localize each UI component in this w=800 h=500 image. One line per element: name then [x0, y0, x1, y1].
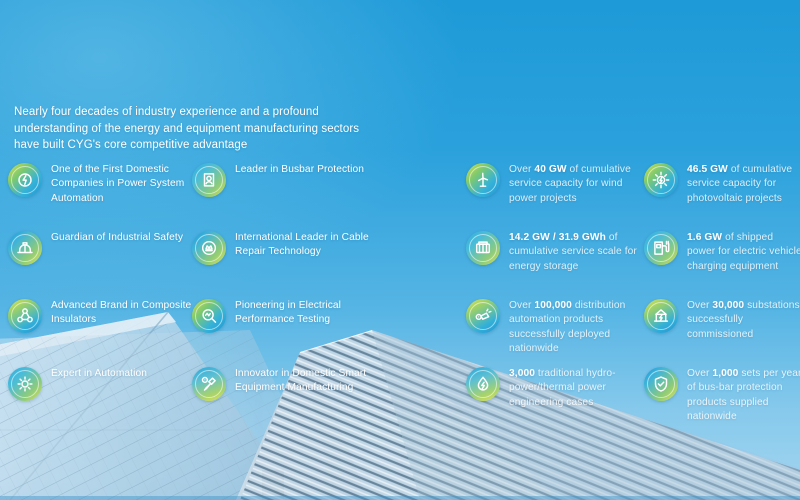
fact-item[interactable]: Innovator in Domestic Smart Equipment Ma… — [192, 366, 377, 424]
fact-column-4: 46.5 GW of cumulative service capacity f… — [644, 162, 800, 434]
fact-text: Over 40 GW of cumulative service capacit… — [509, 162, 646, 206]
fact-item[interactable]: Over 30,000 substations successfully com… — [644, 298, 800, 356]
energy-storage-icon — [466, 231, 500, 265]
fact-item[interactable]: 46.5 GW of cumulative service capacity f… — [644, 162, 800, 220]
fact-item[interactable]: International Leader in Cable Repair Tec… — [192, 230, 377, 288]
fact-item[interactable]: Advanced Brand in Composite Insulators — [8, 298, 193, 356]
fact-text: 46.5 GW of cumulative service capacity f… — [687, 162, 800, 206]
fact-prefix: Over — [509, 300, 534, 311]
fact-item[interactable]: Over 100,000 distribution automation pro… — [466, 298, 646, 356]
fact-item[interactable]: Leader in Busbar Protection — [192, 162, 377, 220]
distribution-automation-icon — [466, 299, 500, 333]
fact-item[interactable]: 1.6 GW of shipped power for electric veh… — [644, 230, 800, 288]
page-headline: Nearly four decades of industry experien… — [14, 104, 374, 154]
fact-column-2: Leader in Busbar ProtectionInternational… — [192, 162, 377, 434]
fact-value: 1,000 — [712, 368, 738, 379]
fact-text: Pioneering in Electrical Performance Tes… — [235, 298, 377, 328]
gear-automation-icon — [8, 367, 42, 401]
fact-column-3: Over 40 GW of cumulative service capacit… — [466, 162, 646, 434]
fact-value: 46.5 GW — [687, 164, 728, 175]
fact-item[interactable]: Over 40 GW of cumulative service capacit… — [466, 162, 646, 220]
fact-text: 1.6 GW of shipped power for electric veh… — [687, 230, 800, 274]
busbar-protection-icon — [192, 163, 226, 197]
performance-testing-icon — [192, 299, 226, 333]
fact-item[interactable]: Over 1,000 sets per year of bus-bar prot… — [644, 366, 800, 424]
power-automation-icon — [8, 163, 42, 197]
fact-prefix: Over — [509, 164, 534, 175]
hard-hat-icon — [8, 231, 42, 265]
fact-text: Over 1,000 sets per year of bus-bar prot… — [687, 366, 800, 424]
fact-item[interactable]: Expert in Automation — [8, 366, 193, 424]
fact-text: Over 100,000 distribution automation pro… — [509, 298, 646, 356]
fact-prefix: Over — [687, 300, 712, 311]
fact-text: One of the First Domestic Companies in P… — [51, 162, 193, 206]
fact-item[interactable]: 14.2 GW / 31.9 GWh of cumulative service… — [466, 230, 646, 288]
shield-protection-icon — [644, 367, 678, 401]
fact-value: 3,000 — [509, 368, 535, 379]
cable-repair-icon — [192, 231, 226, 265]
fact-text: 3,000 traditional hydro-power/thermal po… — [509, 366, 646, 410]
fact-text: Innovator in Domestic Smart Equipment Ma… — [235, 366, 377, 396]
fact-item[interactable]: One of the First Domestic Companies in P… — [8, 162, 193, 220]
wind-turbine-icon — [466, 163, 500, 197]
fact-value: 14.2 GW / 31.9 GWh — [509, 232, 606, 243]
fact-text: International Leader in Cable Repair Tec… — [235, 230, 377, 260]
fact-value: 30,000 — [712, 300, 744, 311]
solar-pv-icon — [644, 163, 678, 197]
fact-value: 100,000 — [534, 300, 572, 311]
composite-insulator-icon — [8, 299, 42, 333]
fact-text: Guardian of Industrial Safety — [51, 230, 183, 245]
substation-icon — [644, 299, 678, 333]
fact-value: 1.6 GW — [687, 232, 722, 243]
fact-text: Advanced Brand in Composite Insulators — [51, 298, 193, 328]
fact-text: Leader in Busbar Protection — [235, 162, 364, 177]
fact-prefix: Over — [687, 368, 712, 379]
hydro-thermal-icon — [466, 367, 500, 401]
fact-text: Expert in Automation — [51, 366, 147, 381]
fact-value: 40 GW — [534, 164, 566, 175]
fact-item[interactable]: Guardian of Industrial Safety — [8, 230, 193, 288]
smart-equipment-icon — [192, 367, 226, 401]
ev-charging-icon — [644, 231, 678, 265]
fact-text: 14.2 GW / 31.9 GWh of cumulative service… — [509, 230, 646, 274]
fact-column-1: One of the First Domestic Companies in P… — [8, 162, 193, 434]
fact-item[interactable]: Pioneering in Electrical Performance Tes… — [192, 298, 377, 356]
fact-item[interactable]: 3,000 traditional hydro-power/thermal po… — [466, 366, 646, 424]
fact-text: Over 30,000 substations successfully com… — [687, 298, 800, 342]
